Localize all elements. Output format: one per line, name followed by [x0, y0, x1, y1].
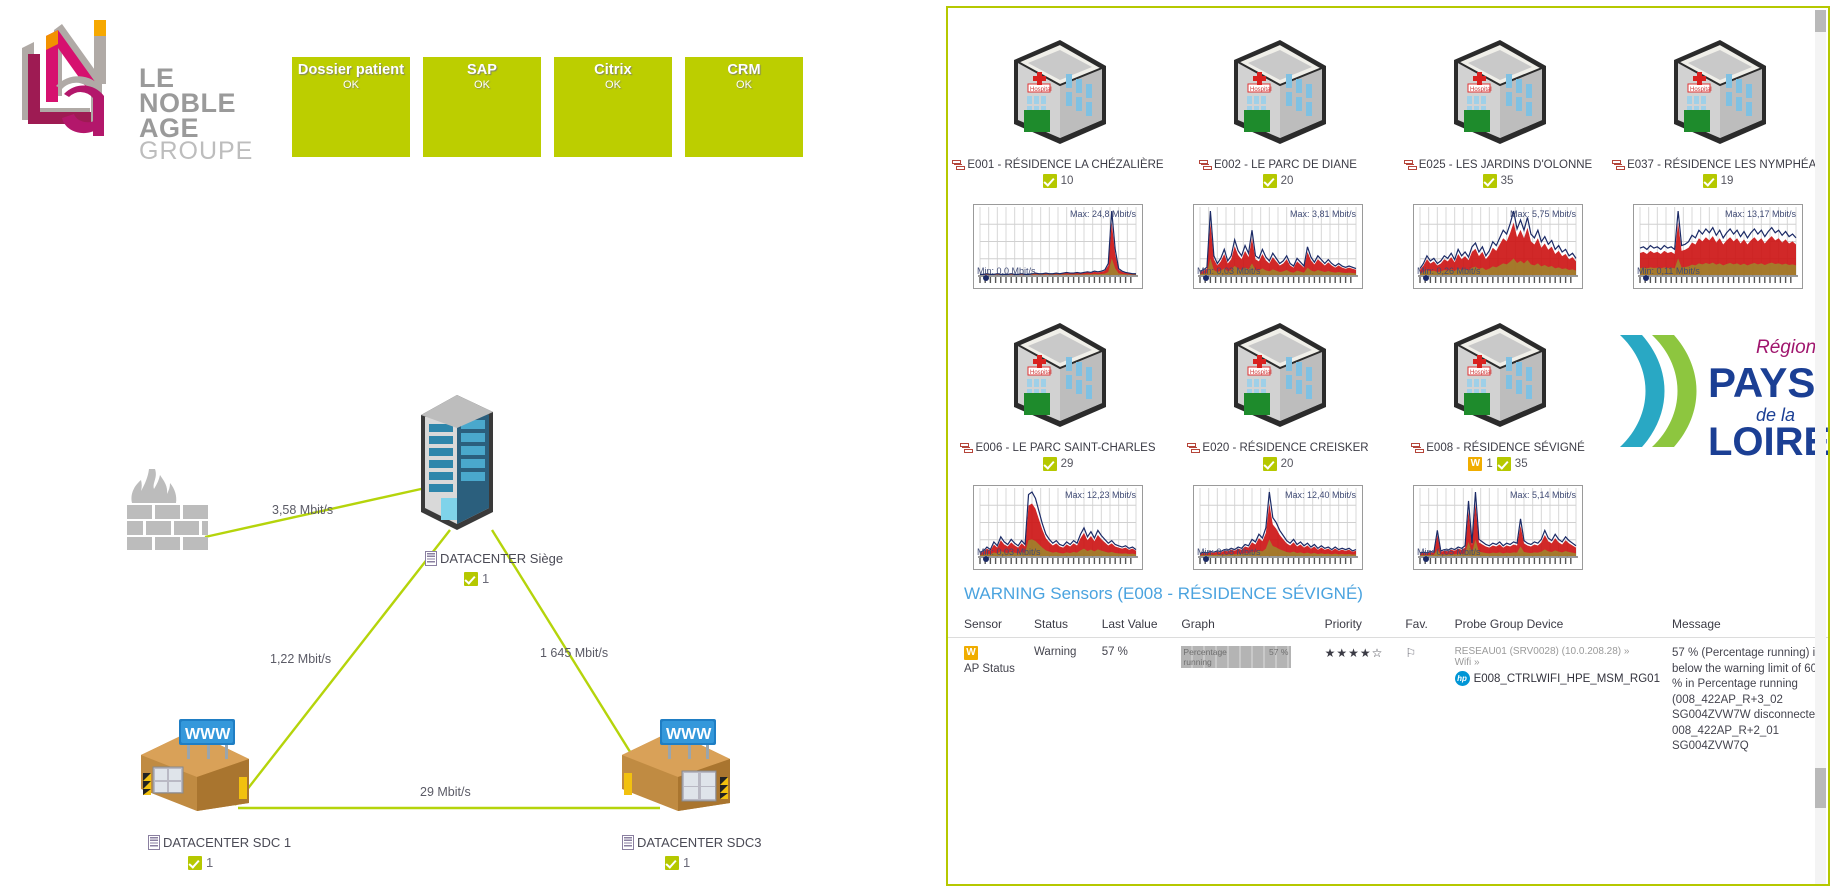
hospital-building-icon: Hospital: [1218, 32, 1338, 152]
site-card-e025[interactable]: Hospital E025 - LES JARDINS D'OLONNE: [1388, 32, 1608, 188]
site-name-text: E037 - RÉSIDENCE LES NYMPHÉAS: [1627, 159, 1824, 171]
site-counts: 29: [948, 457, 1168, 471]
mini-graph-label2: running: [1183, 657, 1211, 667]
device-icon: [1612, 159, 1625, 171]
site-card-e020[interactable]: Hospital E020 - RÉSIDENCE CREISKER: [1168, 315, 1388, 471]
probe-name[interactable]: RESEAU01 (SRV0028) (10.0.208.28) »: [1455, 646, 1660, 657]
node-name: DATACENTER SDC 1: [163, 835, 291, 850]
device-entry[interactable]: hp E008_CTRLWIFI_HPE_MSM_RG01: [1455, 671, 1660, 686]
chart-min-label: Min: 0,03 Mbit/s: [1197, 266, 1261, 276]
hospital-building-icon: Hospital: [1658, 32, 1778, 152]
traffic-chart-e001[interactable]: Max: 24,8 Mbit/s Min: 0,0 Mbit/s: [973, 204, 1143, 289]
chart-min-label: Min: 0,0 Mbit/s: [977, 266, 1036, 276]
traffic-chart-e006[interactable]: Max: 12,23 Mbit/s Min: 0,03 Mbit/s: [973, 485, 1143, 570]
svg-text:Hospital: Hospital: [1250, 370, 1272, 376]
graph-cell-e008[interactable]: Max: 5,14 Mbit/s Min: 0,05 Mbit/s: [1388, 485, 1608, 570]
table-row[interactable]: W AP Status Warning 57 % Percentage 57 %…: [948, 638, 1828, 763]
site-name-text: E006 - LE PARC SAINT-CHARLES: [975, 442, 1155, 454]
site-name: E001 - RÉSIDENCE LA CHÉZALIÈRE: [948, 159, 1168, 171]
node-name: DATACENTER Siège: [440, 551, 563, 566]
chart-min-label: Min: 0,11 Mbit/s: [1637, 266, 1700, 276]
site-up-count: 10: [1061, 175, 1074, 187]
cell-graph[interactable]: Percentage 57 % running: [1175, 638, 1318, 763]
cell-sensor[interactable]: W AP Status: [948, 638, 1028, 763]
rack-icon: [425, 551, 437, 566]
site-card-e002[interactable]: Hospital E002 - LE PARC DE DIANE: [1168, 32, 1388, 188]
graph-cell-e002[interactable]: Max: 3,81 Mbit/s Min: 0,03 Mbit/s: [1168, 204, 1388, 289]
svg-text:Hospital: Hospital: [1250, 87, 1272, 93]
link-label-siege-sdc1: 1,22 Mbit/s: [270, 652, 331, 666]
svg-text:Hospital: Hospital: [1030, 370, 1052, 376]
cell-fav[interactable]: ⚐: [1399, 638, 1448, 763]
site-name: E025 - LES JARDINS D'OLONNE: [1388, 159, 1608, 171]
chart-max-label: Max: 12,40 Mbit/s: [1285, 490, 1356, 500]
site-name: E037 - RÉSIDENCE LES NYMPHÉAS: [1608, 159, 1828, 171]
node-count-datacenter-sdc3: 1: [665, 855, 690, 870]
link-label-sdc1-sdc3: 29 Mbit/s: [420, 785, 471, 799]
cell-status: Warning: [1028, 638, 1096, 763]
col-sensor[interactable]: Sensor: [948, 614, 1028, 638]
chart-max-label: Max: 12,23 Mbit/s: [1065, 490, 1136, 500]
device-icon: [1199, 159, 1212, 171]
col-last-value[interactable]: Last Value: [1096, 614, 1176, 638]
group-name[interactable]: Wifi »: [1455, 657, 1660, 668]
cell-priority[interactable]: ★★★★☆: [1319, 638, 1400, 763]
graph-cell-e006[interactable]: Max: 12,23 Mbit/s Min: 0,03 Mbit/s: [948, 485, 1168, 570]
warning-icon: W: [964, 646, 978, 660]
chart-max-label: Max: 24,8 Mbit/s: [1070, 209, 1136, 219]
site-up-count: 20: [1281, 458, 1294, 470]
hospital-building-icon: Hospital: [1438, 315, 1558, 435]
traffic-chart-e008[interactable]: Max: 5,14 Mbit/s Min: 0,05 Mbit/s: [1413, 485, 1583, 570]
site-counts: 10: [948, 174, 1168, 188]
hospital-building-icon: Hospital: [998, 315, 1118, 435]
svg-text:Hospital: Hospital: [1470, 370, 1492, 376]
cell-message: 57 % (Percentage running) is below the w…: [1666, 638, 1828, 763]
cell-probe-group-device[interactable]: RESEAU01 (SRV0028) (10.0.208.28) » Wifi …: [1449, 638, 1666, 763]
traffic-chart-e037[interactable]: Max: 13,17 Mbit/s Min: 0,11 Mbit/s: [1633, 204, 1803, 289]
check-icon: [1497, 457, 1511, 471]
panel-scrollbar-thumb-top[interactable]: [1815, 10, 1826, 32]
device-icon: [952, 159, 965, 171]
site-name: E002 - LE PARC DE DIANE: [1168, 159, 1388, 171]
left-panel: LE NOBLE AGE GROUPE Dossier patient OK S…: [0, 0, 930, 891]
node-up-count: 1: [206, 855, 213, 870]
node-label-datacenter-sdc3[interactable]: DATACENTER SDC3: [622, 835, 761, 850]
device-icon: [1187, 442, 1200, 454]
svg-text:Hospital: Hospital: [1470, 87, 1492, 93]
datacenter-sdc3-icon[interactable]: WWW: [616, 715, 736, 815]
chart-max-label: Max: 5,75 Mbit/s: [1510, 209, 1576, 219]
node-count-datacenter-siege: 1: [464, 571, 489, 586]
chart-max-label: Max: 13,17 Mbit/s: [1725, 209, 1796, 219]
check-icon: [1263, 174, 1277, 188]
warning-section-title: WARNING Sensors (E008 - RÉSIDENCE SÉVIGN…: [964, 584, 1828, 604]
chart-min-label: Min: 0,03 Mbit/s: [977, 547, 1041, 557]
col-graph[interactable]: Graph: [1175, 614, 1318, 638]
sites-panel: Hospital E001 - RÉSIDENCE LA CHÉZALIÈRE: [946, 6, 1830, 886]
sensor-name: AP Status: [964, 663, 1015, 675]
node-up-count: 1: [482, 571, 489, 586]
chart-min-label: Min: 0,08 Mbit/s: [1197, 547, 1261, 557]
traffic-chart-e020[interactable]: Max: 12,40 Mbit/s Min: 0,08 Mbit/s: [1193, 485, 1363, 570]
check-icon: [1483, 174, 1497, 188]
site-card-e006[interactable]: Hospital E006 - LE PARC SAINT-CHARLES: [948, 315, 1168, 471]
check-icon: [1703, 174, 1717, 188]
col-message[interactable]: Message: [1666, 614, 1828, 638]
svg-text:Région: Région: [1756, 337, 1816, 358]
link-label-firewall-siege: 3,58 Mbit/s: [272, 503, 333, 517]
table-header-row: Sensor Status Last Value Graph Priority …: [948, 614, 1828, 638]
rack-icon: [148, 835, 160, 850]
graphs-row-1: Max: 24,8 Mbit/s Min: 0,0 Mbit/s Max: 3,…: [948, 204, 1828, 289]
col-probe-group-device[interactable]: Probe Group Device: [1449, 614, 1666, 638]
site-name-text: E020 - RÉSIDENCE CREISKER: [1202, 442, 1368, 454]
rack-icon: [622, 835, 634, 850]
check-icon: [1043, 174, 1057, 188]
site-name-text: E025 - LES JARDINS D'OLONNE: [1419, 159, 1592, 171]
node-label-datacenter-sdc1[interactable]: DATACENTER SDC 1: [148, 835, 291, 850]
sites-row-2: Hospital E006 - LE PARC SAINT-CHARLES: [948, 315, 1828, 471]
chart-max-label: Max: 3,81 Mbit/s: [1290, 209, 1356, 219]
warning-icon: W: [1468, 457, 1482, 471]
dashboard-root: LE NOBLE AGE GROUPE Dossier patient OK S…: [0, 0, 1838, 891]
col-priority[interactable]: Priority: [1319, 614, 1400, 638]
col-fav[interactable]: Fav.: [1399, 614, 1448, 638]
svg-text:LOIRE: LOIRE: [1708, 420, 1828, 461]
panel-scrollbar-thumb[interactable]: [1815, 768, 1826, 808]
site-counts: 20: [1168, 174, 1388, 188]
site-name-text: E001 - RÉSIDENCE LA CHÉZALIÈRE: [967, 159, 1163, 171]
link-label-siege-sdc3: 1 645 Mbit/s: [540, 646, 608, 660]
panel-scrollbar-track[interactable]: [1815, 10, 1826, 886]
svg-text:Hospital: Hospital: [1690, 87, 1712, 93]
site-up-count: 29: [1061, 458, 1074, 470]
chart-min-label: Min: 0,26 Mbit/s: [1417, 266, 1481, 276]
chart-min-label: Min: 0,05 Mbit/s: [1417, 547, 1481, 557]
col-status[interactable]: Status: [1028, 614, 1096, 638]
check-icon: [1043, 457, 1057, 471]
region-logo-cell: Région PAYS de la LOIRE: [1608, 315, 1828, 471]
graph-cell-e037[interactable]: Max: 13,17 Mbit/s Min: 0,11 Mbit/s: [1608, 204, 1828, 289]
datacenter-sdc1-icon[interactable]: WWW: [135, 715, 255, 815]
traffic-chart-e025[interactable]: Max: 5,75 Mbit/s Min: 0,26 Mbit/s: [1413, 204, 1583, 289]
check-icon: [188, 856, 202, 870]
sites-row-1: Hospital E001 - RÉSIDENCE LA CHÉZALIÈRE: [948, 32, 1828, 188]
svg-text:WWW: WWW: [666, 726, 712, 743]
chart-max-label: Max: 5,14 Mbit/s: [1510, 490, 1576, 500]
sensor-mini-graph[interactable]: Percentage 57 % running: [1181, 646, 1291, 668]
graph-cell-empty: [1608, 485, 1828, 570]
site-counts: W 1 35: [1388, 457, 1608, 471]
site-name: E006 - LE PARC SAINT-CHARLES: [948, 442, 1168, 454]
check-icon: [464, 572, 478, 586]
device-icon: [960, 442, 973, 454]
traffic-chart-e002[interactable]: Max: 3,81 Mbit/s Min: 0,03 Mbit/s: [1193, 204, 1363, 289]
site-card-e008[interactable]: Hospital E008 - RÉSIDENCE SÉVIGNÉ W: [1388, 315, 1608, 471]
site-card-e037[interactable]: Hospital E037 - RÉSIDENCE LES NYMPHÉAS: [1608, 32, 1828, 188]
site-up-count: 19: [1721, 175, 1734, 187]
firewall-icon[interactable]: [125, 465, 215, 550]
region-pays-de-la-loire-logo: Région PAYS de la LOIRE: [1608, 321, 1828, 461]
site-name: E020 - RÉSIDENCE CREISKER: [1168, 442, 1388, 454]
mini-graph-value: 57 %: [1269, 647, 1288, 657]
hospital-building-icon: Hospital: [1438, 32, 1558, 152]
svg-text:Hospital: Hospital: [1030, 87, 1052, 93]
site-counts: 35: [1388, 174, 1608, 188]
favorite-flag-icon[interactable]: ⚐: [1405, 646, 1416, 660]
hospital-building-icon: Hospital: [998, 32, 1118, 152]
node-count-datacenter-sdc1: 1: [188, 855, 213, 870]
site-up-count: 20: [1281, 175, 1294, 187]
node-name: DATACENTER SDC3: [637, 835, 761, 850]
device-icon: [1404, 159, 1417, 171]
check-icon: [1263, 457, 1277, 471]
device-name: E008_CTRLWIFI_HPE_MSM_RG01: [1474, 673, 1660, 685]
site-name-text: E008 - RÉSIDENCE SÉVIGNÉ: [1426, 442, 1585, 454]
priority-stars: ★★★★☆: [1325, 646, 1384, 660]
warning-sensors-table: Sensor Status Last Value Graph Priority …: [948, 614, 1828, 763]
datacenter-siege-icon[interactable]: [413, 390, 499, 530]
site-name: E008 - RÉSIDENCE SÉVIGNÉ: [1388, 442, 1608, 454]
site-name-text: E002 - LE PARC DE DIANE: [1214, 159, 1357, 171]
graph-cell-e025[interactable]: Max: 5,75 Mbit/s Min: 0,26 Mbit/s: [1388, 204, 1608, 289]
message-text: 57 % (Percentage running) is below the w…: [1672, 646, 1822, 755]
svg-text:WWW: WWW: [185, 726, 231, 743]
hp-logo-icon: hp: [1455, 671, 1470, 686]
site-warn-count: 1: [1486, 458, 1492, 470]
node-up-count: 1: [683, 855, 690, 870]
cell-last-value: 57 %: [1096, 638, 1176, 763]
node-label-datacenter-siege[interactable]: DATACENTER Siège: [425, 551, 563, 566]
site-up-count: 35: [1501, 175, 1514, 187]
hospital-building-icon: Hospital: [1218, 315, 1338, 435]
site-counts: 20: [1168, 457, 1388, 471]
graph-cell-e001[interactable]: Max: 24,8 Mbit/s Min: 0,0 Mbit/s: [948, 204, 1168, 289]
site-up-count: 35: [1515, 458, 1528, 470]
graphs-row-2: Max: 12,23 Mbit/s Min: 0,03 Mbit/s Max: …: [948, 485, 1828, 570]
graph-cell-e020[interactable]: Max: 12,40 Mbit/s Min: 0,08 Mbit/s: [1168, 485, 1388, 570]
site-card-e001[interactable]: Hospital E001 - RÉSIDENCE LA CHÉZALIÈRE: [948, 32, 1168, 188]
check-icon: [665, 856, 679, 870]
mini-graph-label: Percentage: [1183, 647, 1226, 657]
site-counts: 19: [1608, 174, 1828, 188]
device-icon: [1411, 442, 1424, 454]
network-topology-map: DATACENTER Siège 1: [0, 0, 930, 891]
svg-text:PAYS: PAYS: [1708, 359, 1815, 406]
